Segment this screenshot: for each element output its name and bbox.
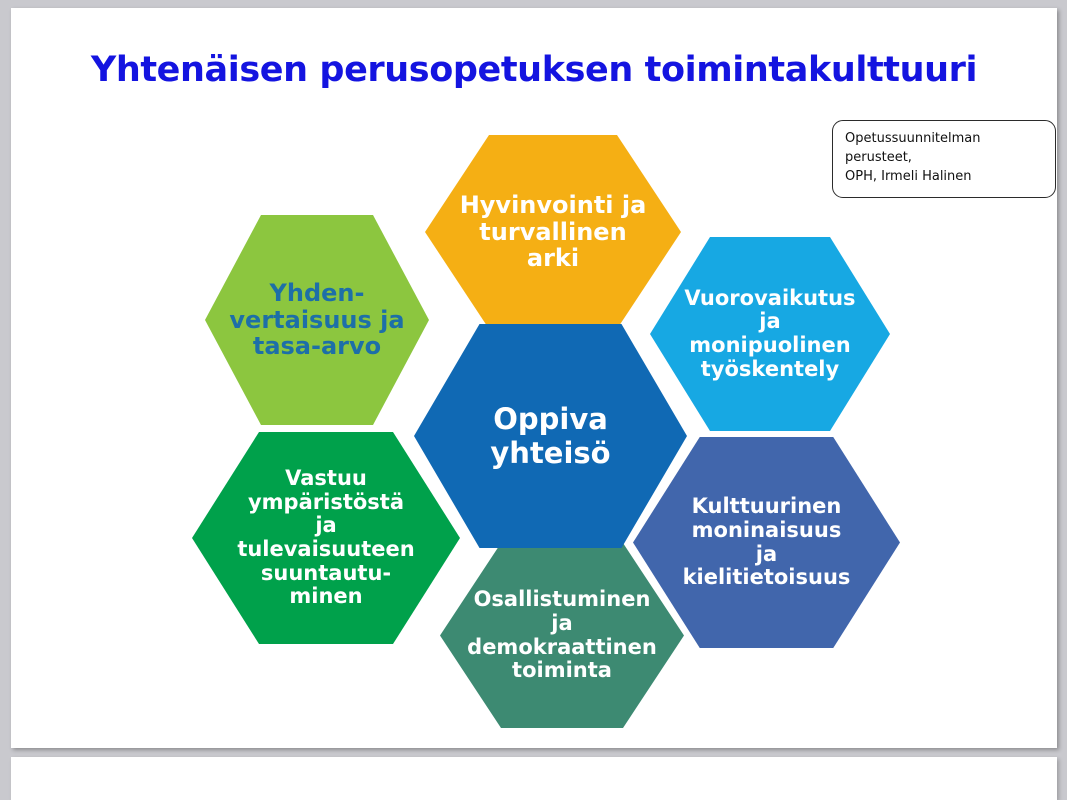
- hex-vastuu-ymparistosta[interactable]: Vastuu ympäristöstä ja tulevaisuuteen su…: [192, 432, 460, 644]
- hex-vastuu-ymparistosta-label: Vastuu ympäristöstä ja tulevaisuuteen su…: [231, 467, 420, 608]
- hex-osallistuminen-label: Osallistuminen ja demokraattinen toimint…: [461, 588, 663, 682]
- hex-vuorovaikutus-label: Vuorovaikutus ja monipuolinen työskentel…: [678, 287, 861, 381]
- hex-kulttuurinen-moninaisuus-label: Kulttuurinen moninaisuus ja kielitietois…: [677, 495, 857, 589]
- hex-oppiva-yhteiso-label: Oppiva yhteisö: [484, 402, 616, 470]
- slide-current[interactable]: Yhtenäisen perusopetuksen toimintakulttu…: [11, 8, 1057, 748]
- hex-hyvinvointi-label: Hyvinvointi ja turvallinen arki: [454, 192, 653, 273]
- hex-vuorovaikutus[interactable]: Vuorovaikutus ja monipuolinen työskentel…: [650, 237, 890, 431]
- hex-hyvinvointi[interactable]: Hyvinvointi ja turvallinen arki: [425, 135, 681, 329]
- hex-oppiva-yhteiso[interactable]: Oppiva yhteisö: [414, 324, 687, 548]
- honeycomb-diagram: Hyvinvointi ja turvallinen arki Yhden- v…: [11, 8, 1057, 748]
- slide-next[interactable]: [11, 757, 1057, 800]
- hex-osallistuminen[interactable]: Osallistuminen ja demokraattinen toimint…: [440, 543, 684, 728]
- slide-stage: Yhtenäisen perusopetuksen toimintakulttu…: [0, 0, 1067, 800]
- hex-yhdenvertaisuus-label: Yhden- vertaisuus ja tasa-arvo: [223, 280, 410, 361]
- hex-yhdenvertaisuus[interactable]: Yhden- vertaisuus ja tasa-arvo: [205, 215, 429, 425]
- hex-kulttuurinen-moninaisuus[interactable]: Kulttuurinen moninaisuus ja kielitietois…: [633, 437, 900, 648]
